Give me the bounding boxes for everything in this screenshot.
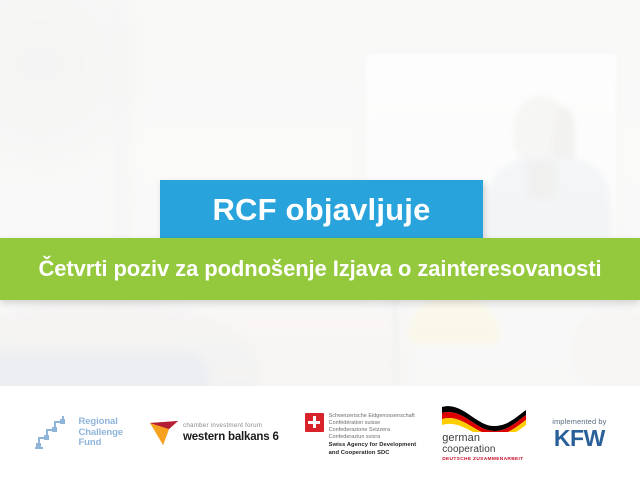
headline-text: RCF objavljuje bbox=[212, 194, 430, 225]
cif-logo-wordmark: chamber investment forum western balkans… bbox=[183, 423, 279, 443]
sdc-line-4: Confederaziun svizra bbox=[329, 434, 417, 441]
logo-german-cooperation: german cooperation DEUTSCHE ZUSAMMENARBE… bbox=[442, 404, 526, 462]
logo-kfw: implemented by KFW bbox=[552, 417, 606, 450]
rcf-line-1: Regional bbox=[78, 416, 117, 427]
german-line-2: cooperation bbox=[442, 445, 523, 456]
sdc-line-2: Confédération suisse bbox=[329, 420, 417, 427]
sdc-agency-line-2: and Cooperation SDC bbox=[329, 450, 417, 458]
logo-swiss-sdc: Schweizerische Eidgenossenschaft Confédé… bbox=[305, 409, 417, 458]
poster-image: RCF objavljuje Četvrti poziv za podnošen… bbox=[0, 0, 640, 480]
sdc-agency-line-1: Swiss Agency for Development bbox=[329, 442, 417, 450]
german-line-3: DEUTSCHE ZUSAMMENARBEIT bbox=[442, 457, 523, 462]
cif-name: western balkans 6 bbox=[183, 431, 279, 444]
sdc-logo-wordmark: Schweizerische Eidgenossenschaft Confédé… bbox=[329, 413, 417, 458]
logo-chamber-investment-forum: chamber investment forum western balkans… bbox=[149, 419, 279, 447]
subtitle-bar: Četvrti poziv za podnošenje Izjava o zai… bbox=[0, 238, 640, 300]
sdc-line-1: Schweizerische Eidgenossenschaft bbox=[329, 413, 417, 420]
swiss-flag-icon bbox=[305, 413, 324, 432]
rcf-logo-icon bbox=[33, 414, 73, 452]
kfw-wordmark: KFW bbox=[554, 427, 605, 450]
logo-strip: Regional Challenge Fund chamber investme… bbox=[0, 386, 640, 480]
sdc-line-3: Confederazione Svizzera bbox=[329, 427, 417, 434]
rcf-line-2: Challenge bbox=[78, 427, 123, 438]
cif-logo-icon bbox=[149, 419, 179, 447]
cif-tagline: chamber investment forum bbox=[183, 423, 279, 430]
headline-banner: RCF objavljuje bbox=[160, 180, 483, 238]
german-logo-wordmark: german cooperation DEUTSCHE ZUSAMMENARBE… bbox=[442, 433, 523, 462]
logo-regional-challenge-fund: Regional Challenge Fund bbox=[33, 414, 123, 452]
rcf-logo-wordmark: Regional Challenge Fund bbox=[78, 417, 123, 449]
german-flag-swoosh-icon bbox=[442, 404, 526, 432]
rcf-line-3: Fund bbox=[78, 437, 101, 448]
subtitle-text: Četvrti poziv za podnošenje Izjava o zai… bbox=[38, 258, 601, 280]
